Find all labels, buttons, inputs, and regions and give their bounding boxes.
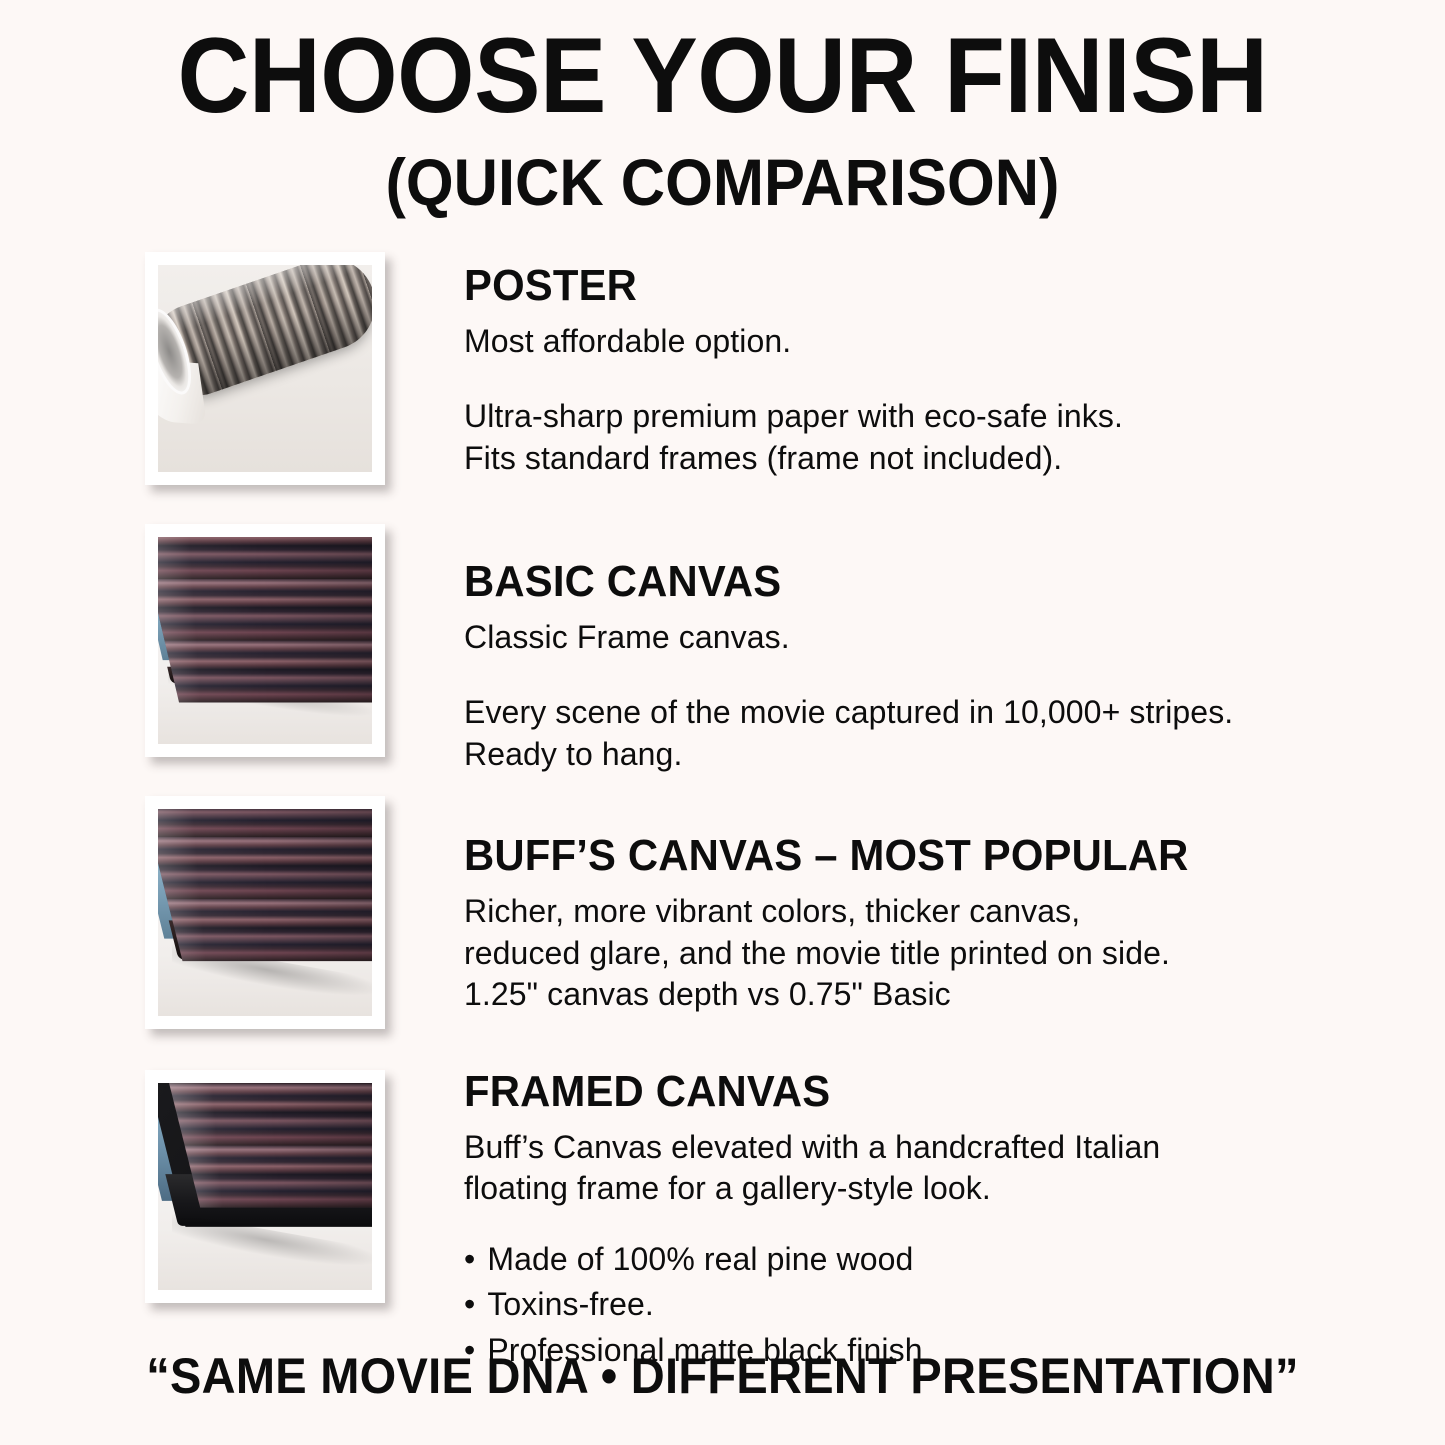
poster-product-image-card — [145, 252, 385, 485]
basic-canvas-text-block: BASIC CANVAS Classic Frame canvas. Every… — [464, 524, 1233, 775]
finish-option-framed-canvas: FRAMED CANVAS Buff’s Canvas elevated wit… — [0, 1070, 1445, 1342]
poster-body: Ultra-sharp premium paper with eco-safe … — [464, 396, 1123, 479]
framed-canvas-body-line-2: floating frame for a gallery-style look. — [464, 1170, 991, 1206]
basic-canvas-title: BASIC CANVAS — [464, 560, 1195, 604]
buffs-canvas-body-line-2: reduced glare, and the movie title print… — [464, 935, 1170, 971]
list-item: Made of 100% real pine wood — [464, 1237, 1160, 1282]
finish-options-list: POSTER Most affordable option. Ultra-sha… — [0, 252, 1445, 1342]
poster-lead: Most affordable option. — [464, 321, 1123, 362]
framed-canvas-body-line-1: Buff’s Canvas elevated with a handcrafte… — [464, 1129, 1160, 1165]
poster-text-block: POSTER Most affordable option. Ultra-sha… — [464, 252, 1123, 479]
poster-body-line-2: Fits standard frames (frame not included… — [464, 440, 1062, 476]
basic-canvas-product-image — [158, 537, 372, 744]
basic-canvas-lead: Classic Frame canvas. — [464, 617, 1233, 658]
buffs-canvas-body-line-1: Richer, more vibrant colors, thicker can… — [464, 893, 1080, 929]
basic-canvas-body: Every scene of the movie captured in 10,… — [464, 692, 1233, 775]
framed-canvas-product-image-card — [145, 1070, 385, 1303]
buffs-canvas-product-image — [158, 809, 372, 1016]
page-subtitle: (QUICK COMPARISON) — [51, 149, 1395, 215]
buffs-canvas-print-face — [158, 809, 372, 961]
framed-canvas-print-face — [166, 1083, 372, 1208]
page-header: CHOOSE YOUR FINISH (QUICK COMPARISON) — [0, 0, 1445, 215]
basic-canvas-body-line-1: Every scene of the movie captured in 10,… — [464, 694, 1233, 730]
footer-tagline: “SAME MOVIE DNA • DIFFERENT PRESENTATION… — [43, 1347, 1401, 1405]
poster-title: POSTER — [464, 264, 1090, 308]
finish-option-basic-canvas: BASIC CANVAS Classic Frame canvas. Every… — [0, 524, 1445, 796]
finish-option-poster: POSTER Most affordable option. Ultra-sha… — [0, 252, 1445, 524]
basic-canvas-product-image-card — [145, 524, 385, 757]
basic-canvas-print-face — [158, 537, 372, 702]
buffs-canvas-body-line-3: 1.25" canvas depth vs 0.75" Basic — [464, 976, 951, 1012]
buffs-canvas-text-block: BUFF’S CANVAS – MOST POPULAR Richer, mor… — [464, 796, 1227, 1016]
page-title: CHOOSE YOUR FINISH — [51, 22, 1395, 129]
poster-body-line-1: Ultra-sharp premium paper with eco-safe … — [464, 398, 1123, 434]
basic-canvas-body-line-2: Ready to hang. — [464, 736, 682, 772]
framed-canvas-text-block: FRAMED CANVAS Buff’s Canvas elevated wit… — [464, 1070, 1160, 1373]
framed-canvas-title: FRAMED CANVAS — [464, 1070, 1125, 1114]
buffs-canvas-product-image-card — [145, 796, 385, 1029]
buffs-canvas-title: BUFF’S CANVAS – MOST POPULAR — [464, 834, 1188, 878]
buffs-canvas-body: Richer, more vibrant colors, thicker can… — [464, 891, 1227, 1016]
poster-product-image — [158, 265, 372, 472]
framed-canvas-product-image — [158, 1083, 372, 1290]
framed-canvas-body: Buff’s Canvas elevated with a handcrafte… — [464, 1127, 1160, 1209]
list-item: Toxins-free. — [464, 1282, 1160, 1327]
finish-option-buffs-canvas: BUFF’S CANVAS – MOST POPULAR Richer, mor… — [0, 796, 1445, 1070]
